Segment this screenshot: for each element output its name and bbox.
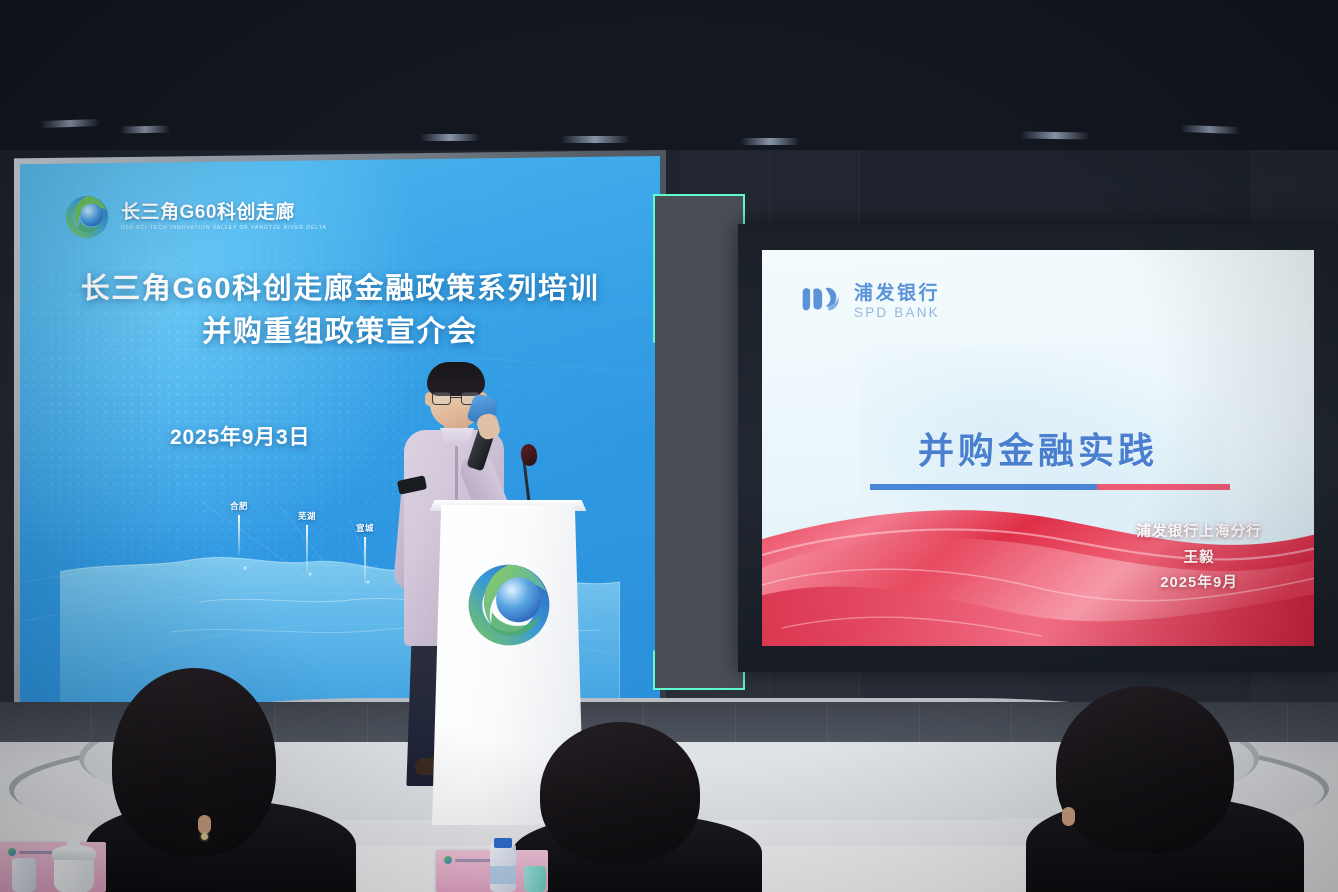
map-city-label: 合肥	[230, 500, 248, 555]
water-bottle	[12, 858, 36, 892]
ceiling-light	[740, 138, 800, 145]
presenter-org: 浦发银行上海分行	[1136, 520, 1262, 545]
audience-earring	[201, 833, 208, 840]
audience-head	[1056, 686, 1234, 854]
presenter-name: 王毅	[1136, 546, 1262, 571]
map-city-name: 宣城	[356, 522, 374, 534]
map-city-name: 合肥	[230, 500, 248, 512]
riser-segment	[828, 702, 920, 742]
left-slide-title-line1: 长三角G60科创走廊金融政策系列培训	[20, 268, 660, 311]
g60-logo-lockup: 长三角G60科创走廊 G60 SCI-TECH INNOVATION VALLE…	[64, 194, 327, 240]
riser-segment	[0, 702, 92, 742]
podium-g60-logo-icon	[466, 562, 552, 648]
map-city-label: 宣城	[356, 522, 374, 583]
map-city-label: 芜湖	[298, 510, 316, 573]
riser-segment	[276, 702, 368, 742]
glasses-lens-left	[432, 392, 451, 405]
audience-head	[540, 722, 700, 864]
riser-segment	[1288, 702, 1338, 742]
left-slide-title: 长三角G60科创走廊金融政策系列培训 并购重组政策宣介会	[20, 268, 660, 354]
g60-logo-en: G60 SCI-TECH INNOVATION VALLEY OF YANGTZ…	[121, 226, 327, 232]
ceiling-light	[420, 134, 480, 141]
bottle-cap	[494, 838, 512, 848]
spd-bank-icon	[800, 285, 843, 318]
ceiling-light	[560, 136, 630, 143]
riser-segment	[736, 702, 828, 742]
ceiling-light	[1020, 131, 1090, 139]
bottle-label	[490, 866, 516, 884]
tea-cup-knob	[67, 838, 80, 849]
placard-logo-dot	[8, 848, 16, 856]
spd-bank-wordmark: 浦发银行 SPD BANK	[854, 284, 940, 320]
conference-hall-photo: 长三角G60科创走廊 G60 SCI-TECH INNOVATION VALLE…	[0, 0, 1338, 892]
right-display-frame: 浦发银行 SPD BANK 并购金融实践	[738, 224, 1338, 672]
placard-logo-dot	[444, 856, 452, 864]
g60-swirl-icon	[64, 194, 110, 240]
audience-ear	[1062, 807, 1075, 826]
audience-ear	[198, 815, 211, 834]
map-city-name: 芜湖	[298, 510, 316, 522]
audience-head	[112, 668, 276, 856]
left-slide-date: 2025年9月3日	[170, 421, 310, 451]
speaker-hair	[427, 362, 485, 396]
right-display-screen[interactable]: 浦发银行 SPD BANK 并购金融实践	[762, 250, 1314, 646]
riser-segment	[920, 702, 1012, 742]
g60-logo-cn: 长三角G60科创走廊	[121, 203, 327, 222]
center-wall-panel	[655, 196, 743, 688]
g60-wordmark: 长三角G60科创走廊 G60 SCI-TECH INNOVATION VALLE…	[121, 203, 327, 231]
spd-logo-cn: 浦发银行	[854, 284, 940, 304]
left-slide-title-line2: 并购重组政策宣介会	[20, 311, 660, 354]
spd-logo-en: SPD BANK	[854, 306, 940, 320]
map-city-stem	[364, 537, 366, 583]
map-city-stem	[306, 525, 308, 573]
water-bottle	[524, 866, 546, 892]
presenter-credit-block: 浦发银行上海分行 王毅 2025年9月	[1136, 520, 1262, 596]
glasses-bridge	[451, 397, 461, 398]
ceiling-light	[120, 126, 170, 134]
spd-bank-logo-lockup: 浦发银行 SPD BANK	[800, 284, 940, 320]
presenter-date: 2025年9月	[1136, 571, 1262, 596]
map-city-stem	[238, 515, 240, 555]
